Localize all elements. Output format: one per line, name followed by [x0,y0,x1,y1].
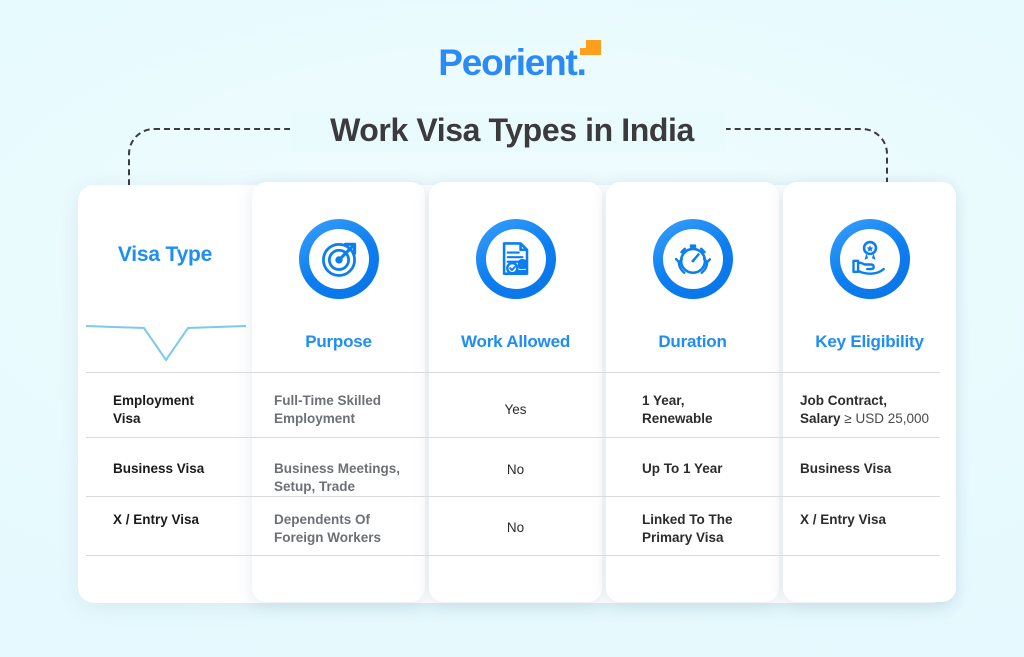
table-row: Dependents OfForeign Workers [274,511,434,547]
table-row: Yes [429,401,602,419]
eligibility-bold: X / Entry Visa [800,512,886,527]
table-row: Linked To ThePrimary Visa [642,511,792,547]
row-divider [86,437,940,438]
table-row: EmploymentVisa [113,392,253,428]
table-row: Business Meetings,Setup, Trade [274,460,434,496]
column-header-work-allowed: Work Allowed [429,332,602,352]
table-row: Job Contract,Salary ≥ USD 25,000 [800,392,948,428]
icon-cell-duration [606,219,779,304]
zigzag-divider-icon [86,322,246,364]
icon-cell-key-eligibility [783,219,956,304]
table-row: 1 Year,Renewable [642,392,792,428]
table-row: Full-Time SkilledEmployment [274,392,434,428]
document-stamp-icon [476,219,556,299]
column-header-visa-type: Visa Type [78,243,252,267]
table-row: X / Entry Visa [113,511,253,529]
target-arrow-icon [299,219,379,299]
table-row: Business Visa [800,460,948,478]
row-divider [86,372,940,373]
stopwatch-refresh-icon [653,219,733,299]
row-divider [86,496,940,497]
table-row: X / Entry Visa [800,511,948,529]
row-divider [86,555,940,556]
column-header-purpose: Purpose [252,332,425,352]
hand-badge-icon [830,219,910,299]
table-row: Up To 1 Year [642,460,792,478]
table-row: Business Visa [113,460,253,478]
table-row: No [429,519,602,537]
icon-cell-work-allowed [429,219,602,304]
eligibility-light: ≥ USD 25,000 [841,411,929,426]
icon-cell-purpose [252,219,425,304]
table-row: No [429,461,602,479]
eligibility-bold: Business Visa [800,461,891,476]
column-header-key-eligibility: Key Eligibility [783,332,956,352]
column-header-duration: Duration [606,332,779,352]
